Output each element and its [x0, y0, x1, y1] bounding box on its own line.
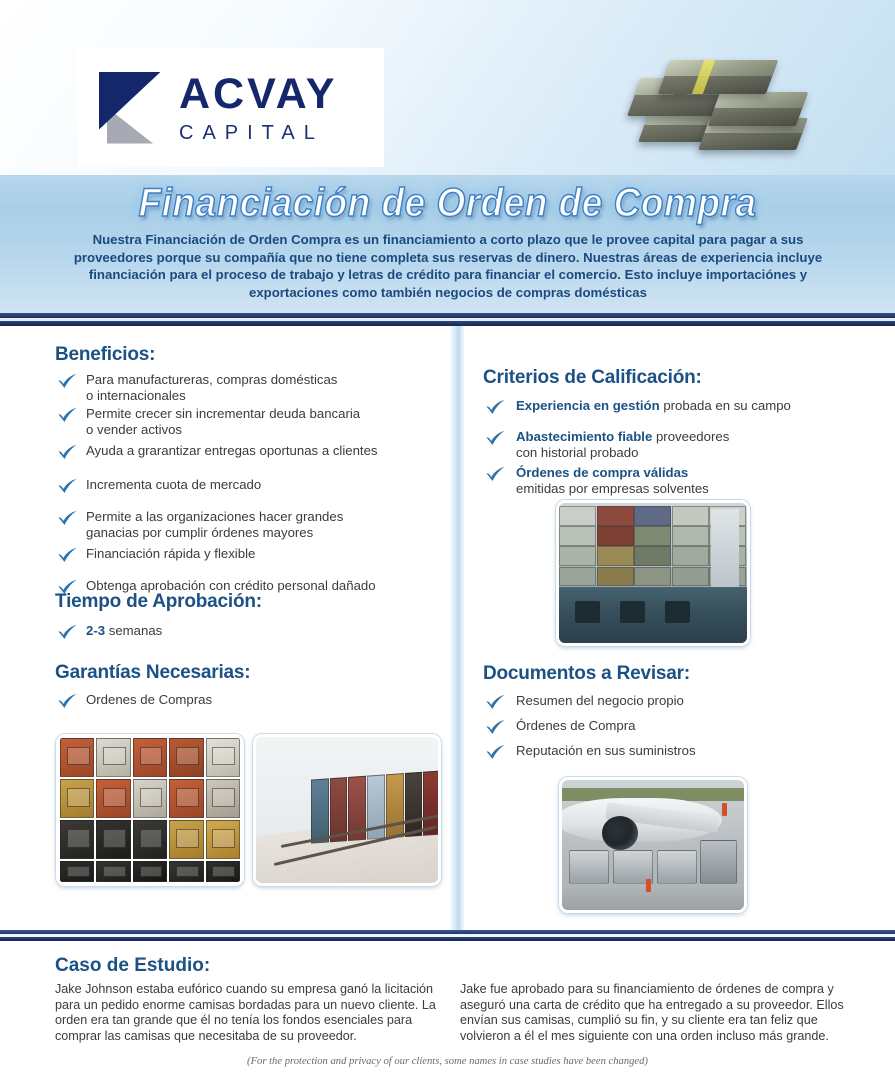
check-icon [485, 466, 506, 482]
approval-time-unit-label: semanas [109, 623, 163, 638]
benefit-item: Permite crecer sin incrementar deuda ban… [55, 406, 430, 443]
criteria-item: Abastecimiento fiable proveedores con hi… [483, 429, 883, 465]
criteria-item: Órdenes de compra válidas emitidas por e… [483, 465, 883, 498]
case-study-right-text: Jake fue aprobado para su financiamiento… [460, 982, 853, 1044]
case-study-disclaimer: (For the protection and privacy of our c… [0, 1056, 895, 1067]
right-column: Criterios de Calificación: Experiencia e… [465, 326, 895, 930]
guarantees-heading: Garantías Necesarias: [55, 662, 250, 684]
benefit-text: Para manufactureras, compras domésticas … [86, 372, 337, 403]
document-item: Resumen del negocio propio [483, 693, 883, 718]
check-icon [485, 719, 506, 735]
document-text: Reputación en sus suministros [516, 743, 696, 758]
benefits-heading: Beneficios: [55, 344, 155, 366]
check-icon [485, 399, 506, 415]
container-ship-photo [556, 500, 750, 646]
documents-list: Resumen del negocio propio Órdenes de Co… [483, 693, 883, 759]
check-icon [485, 430, 506, 446]
criteria-lead: Abastecimiento fiable [516, 429, 652, 444]
logo-wordmark: ACVAY CAPITAL [179, 73, 337, 143]
check-icon [57, 510, 78, 526]
benefit-item: Para manufactureras, compras domésticas … [55, 372, 430, 406]
acvay-arrow-mark-icon [99, 72, 161, 144]
criteria-rest: emitidas por empresas solventes [516, 481, 709, 496]
criteria-list: Experiencia en gestión probada en su cam… [483, 398, 883, 498]
cash-bundles-image [616, 52, 826, 162]
benefits-list: Para manufactureras, compras domésticas … [55, 372, 430, 594]
criteria-rest: probada en su campo [660, 398, 791, 413]
check-icon [57, 373, 78, 389]
check-icon [57, 478, 78, 494]
check-icon [57, 693, 78, 709]
check-icon [57, 547, 78, 563]
criteria-lead: Órdenes de compra válidas [516, 465, 688, 480]
stacked-containers-photo [56, 734, 244, 886]
benefit-text: Ayuda a grarantizar entregas oportunas a… [86, 443, 378, 458]
documents-heading: Documentos a Revisar: [483, 663, 690, 685]
benefit-item: Ayuda a grarantizar entregas oportunas a… [55, 443, 430, 477]
benefit-text: Incrementa cuota de mercado [86, 477, 261, 492]
check-icon [57, 444, 78, 460]
logo-sub-text: CAPITAL [179, 123, 337, 143]
case-study-left-text: Jake Johnson estaba eufórico cuando su e… [55, 982, 448, 1044]
document-text: Resumen del negocio propio [516, 693, 684, 708]
column-divider [449, 326, 465, 930]
check-icon [57, 407, 78, 423]
guarantee-item: Ordenes de Compras [55, 692, 385, 708]
body-content: Beneficios: Para manufactureras, compras… [0, 326, 895, 930]
benefit-text: Financiación rápida y flexible [86, 546, 255, 561]
flyer-title: Financiación de Orden de Compra [139, 180, 757, 225]
criteria-lead: Experiencia en gestión [516, 398, 660, 413]
benefit-text: Permite a las organizaciones hacer grand… [86, 509, 343, 540]
company-logo: ACVAY CAPITAL [77, 48, 384, 167]
case-study-heading: Caso de Estudio: [55, 955, 210, 977]
guarantee-text: Ordenes de Compras [86, 692, 212, 707]
approval-time-heading: Tiempo de Aprobación: [55, 591, 262, 613]
document-item: Reputación en sus suministros [483, 743, 883, 759]
benefit-item: Incrementa cuota de mercado [55, 477, 430, 509]
air-cargo-loading-photo [559, 777, 747, 913]
document-text: Órdenes de Compra [516, 718, 635, 733]
benefit-text: Permite crecer sin incrementar deuda ban… [86, 406, 360, 437]
criteria-heading: Criterios de Calificación: [483, 367, 702, 389]
benefit-item: Financiación rápida y flexible [55, 546, 430, 578]
criteria-item: Experiencia en gestión probada en su cam… [483, 398, 883, 429]
flyer-page: ACVAY CAPITAL Financiación de Orden de C… [0, 0, 895, 1080]
document-item: Órdenes de Compra [483, 718, 883, 743]
header-banner: ACVAY CAPITAL Financiación de Orden de C… [0, 0, 895, 313]
case-study-section: Caso de Estudio: Jake Johnson estaba euf… [0, 941, 895, 1080]
benefit-item: Permite a las organizaciones hacer grand… [55, 509, 430, 546]
left-column: Beneficios: Para manufactureras, compras… [0, 326, 449, 930]
approval-time-value: 2-3 [86, 623, 105, 638]
check-icon [485, 694, 506, 710]
check-icon [57, 624, 78, 640]
flyer-title-wrap: Financiación de Orden de Compra [0, 182, 895, 224]
freight-train-photo [253, 734, 441, 886]
intro-paragraph: Nuestra Financiación de Orden Compra es … [62, 231, 834, 301]
logo-brand-text: ACVAY [179, 73, 337, 116]
check-icon [485, 744, 506, 760]
approval-time-item: 2-3 semanas [55, 623, 385, 639]
